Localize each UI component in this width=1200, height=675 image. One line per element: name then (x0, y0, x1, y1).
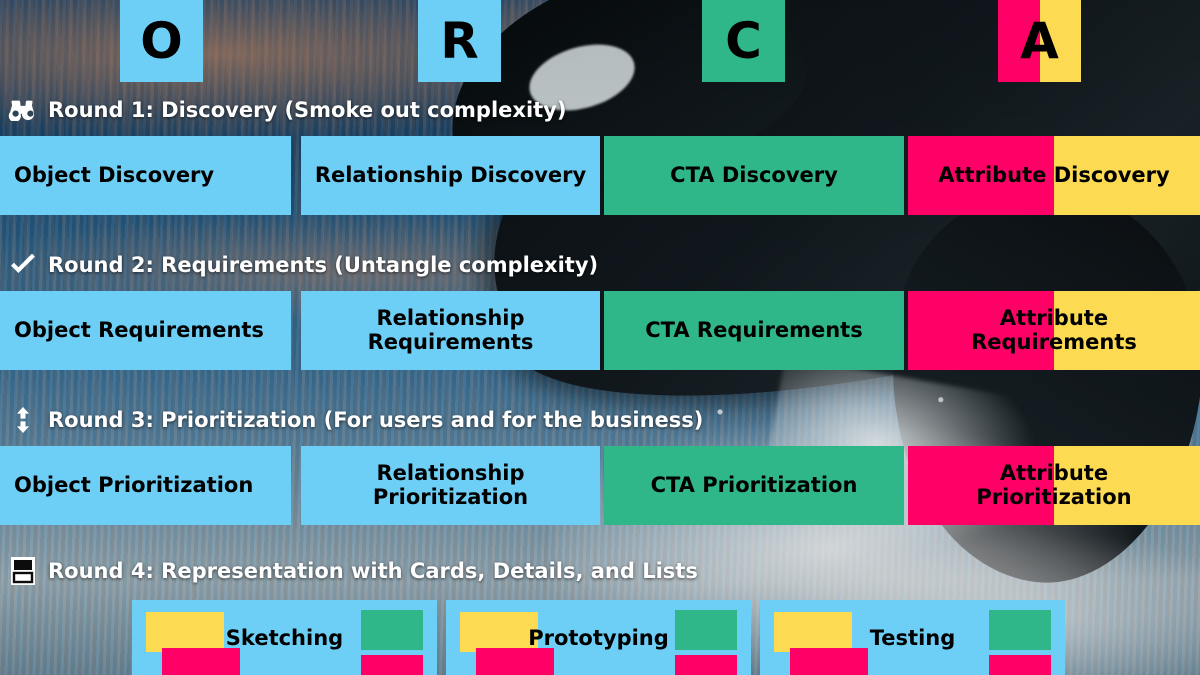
up-down-arrow-icon (8, 406, 38, 434)
chip-label: Testing (870, 626, 956, 650)
acronym-tile-o: O (120, 0, 203, 82)
cell-cta-requirements[interactable]: CTA Requirements (604, 291, 904, 370)
green-swatch (361, 610, 423, 650)
cell-label: Object Requirements (0, 319, 291, 343)
pink-swatch (790, 648, 868, 675)
chip-label: Prototyping (528, 626, 669, 650)
cell-label: CTA Discovery (604, 164, 904, 188)
cell-label: RelationshipPrioritization (301, 462, 600, 509)
pink-swatch (476, 648, 554, 675)
chip-label: Sketching (226, 626, 343, 650)
check-icon (8, 251, 38, 279)
round-3-header: Round 3: Prioritization (For users and f… (8, 405, 703, 435)
yellow-swatch (774, 612, 852, 652)
cell-attribute-discovery[interactable]: Attribute Discovery (908, 136, 1200, 215)
acronym-tile-a: A (998, 0, 1081, 82)
pink-swatch-2 (361, 655, 423, 675)
round-4-header: Round 4: Representation with Cards, Deta… (8, 556, 698, 586)
chip-prototyping[interactable]: Prototyping (446, 600, 751, 675)
cell-label: CTA Prioritization (604, 474, 904, 498)
acronym-letter: A (1020, 16, 1059, 66)
pink-swatch-2 (675, 655, 737, 675)
content-layer: O R C A Round 1: Discov (0, 0, 1200, 675)
cell-label: AttributeRequirements (908, 307, 1200, 354)
cell-attribute-requirements[interactable]: AttributeRequirements (908, 291, 1200, 370)
yellow-swatch (146, 612, 224, 652)
acronym-letter: O (140, 16, 183, 66)
acronym-letter: R (440, 16, 479, 66)
binoculars-icon (8, 96, 38, 124)
cell-object-discovery[interactable]: Object Discovery (0, 136, 291, 215)
round-2-header: Round 2: Requirements (Untangle complexi… (8, 250, 598, 280)
cell-label: Attribute Discovery (908, 164, 1200, 188)
chip-testing[interactable]: Testing (760, 600, 1065, 675)
cell-label: Object Prioritization (0, 474, 291, 498)
cell-relationship-prioritization[interactable]: RelationshipPrioritization (301, 446, 600, 525)
orca-framework-slide: O R C A Round 1: Discov (0, 0, 1200, 675)
cell-label: Object Discovery (0, 164, 291, 188)
chip-sketching[interactable]: Sketching (132, 600, 437, 675)
cell-cta-prioritization[interactable]: CTA Prioritization (604, 446, 904, 525)
cell-label: CTA Requirements (604, 319, 904, 343)
cell-relationship-discovery[interactable]: Relationship Discovery (301, 136, 600, 215)
acronym-tile-r: R (418, 0, 501, 82)
acronym-tile-c: C (702, 0, 785, 82)
cell-relationship-requirements[interactable]: RelationshipRequirements (301, 291, 600, 370)
cell-object-prioritization[interactable]: Object Prioritization (0, 446, 291, 525)
round-2-title: Round 2: Requirements (Untangle complexi… (48, 253, 598, 277)
cell-cta-discovery[interactable]: CTA Discovery (604, 136, 904, 215)
acronym-letter: C (725, 16, 762, 66)
cell-label: RelationshipRequirements (301, 307, 600, 354)
round-3-title: Round 3: Prioritization (For users and f… (48, 408, 703, 432)
cell-label: AttributePrioritization (908, 462, 1200, 509)
green-swatch (675, 610, 737, 650)
green-swatch (989, 610, 1051, 650)
pink-swatch-2 (989, 655, 1051, 675)
card-layout-icon (8, 557, 38, 585)
round-1-title: Round 1: Discovery (Smoke out complexity… (48, 98, 566, 122)
round-1-header: Round 1: Discovery (Smoke out complexity… (8, 95, 566, 125)
yellow-swatch (460, 612, 538, 652)
cell-label: Relationship Discovery (301, 164, 600, 188)
round-4-title: Round 4: Representation with Cards, Deta… (48, 559, 698, 583)
cell-attribute-prioritization[interactable]: AttributePrioritization (908, 446, 1200, 525)
pink-swatch (162, 648, 240, 675)
cell-object-requirements[interactable]: Object Requirements (0, 291, 291, 370)
